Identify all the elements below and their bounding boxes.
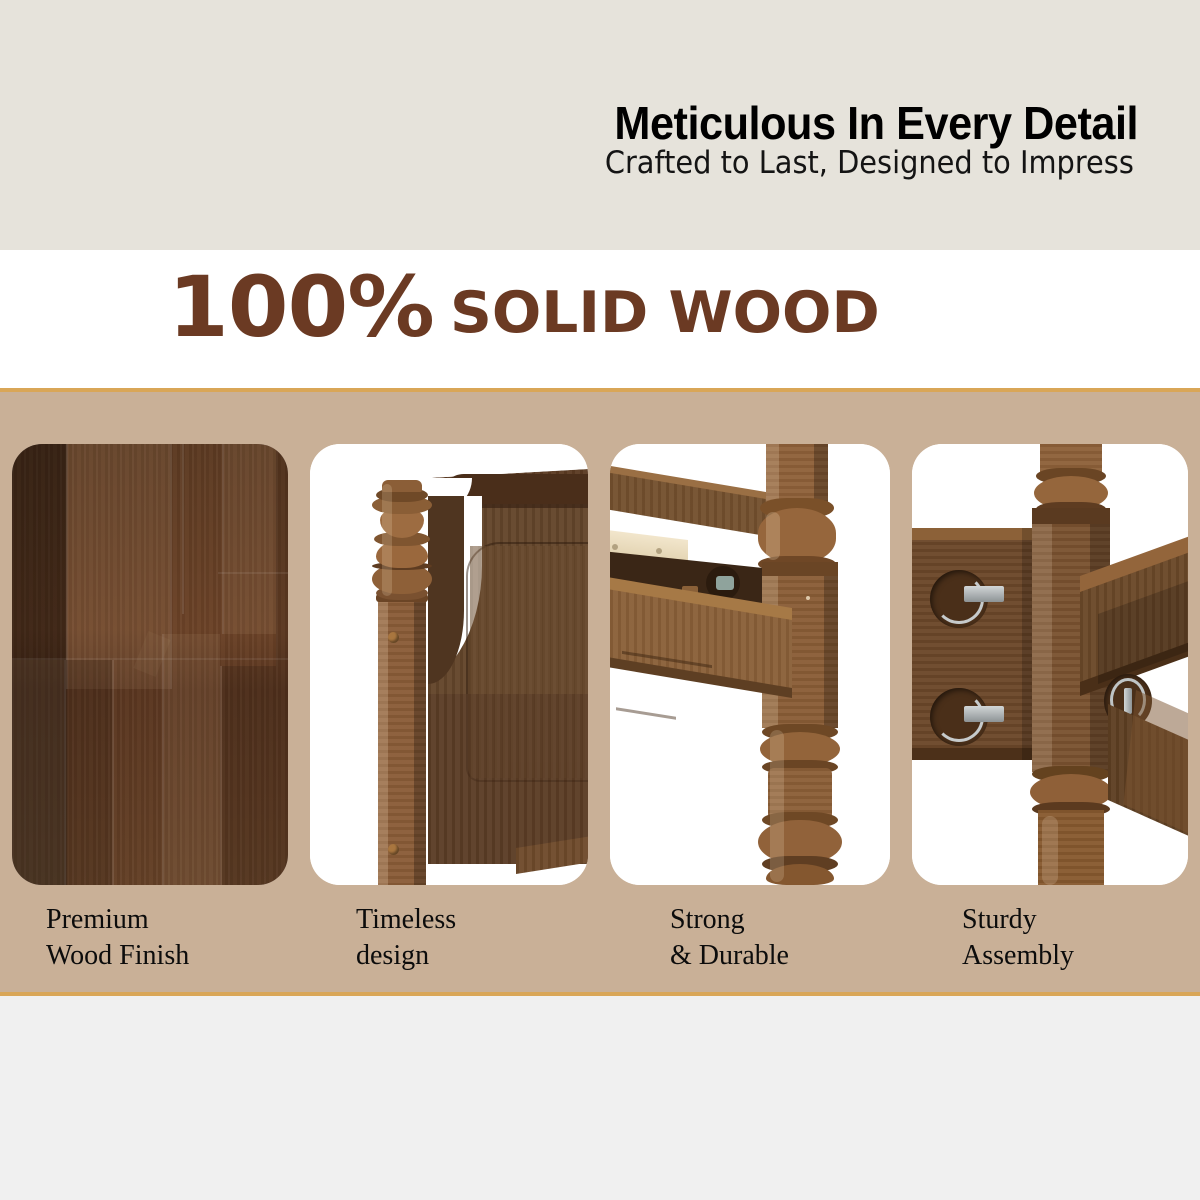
claim-material: SOLID WOOD	[450, 285, 880, 348]
page-subtitle: Crafted to Last, Designed to Impress	[605, 145, 1134, 181]
claim-percentage: 100%	[168, 268, 434, 348]
claim-band: 100% SOLID WOOD	[0, 250, 1200, 388]
footer-band	[0, 996, 1200, 1200]
wood-grain-planks-image	[12, 444, 288, 885]
solid-wood-claim: 100% SOLID WOOD	[168, 268, 871, 348]
header-band: Meticulous In Every Detail Crafted to La…	[0, 0, 1200, 250]
bed-leg-rail-joint-image	[610, 444, 890, 885]
bed-headboard-finial-image	[310, 444, 588, 885]
gallery-tile-sturdy-assembly[interactable]	[912, 444, 1188, 885]
gallery-tile-timeless-design[interactable]	[310, 444, 588, 885]
tile-caption-premium-wood-finish: Premium Wood Finish	[46, 902, 189, 974]
cam-lock-hardware-image	[912, 444, 1188, 885]
page-title: Meticulous In Every Detail	[614, 96, 1138, 150]
gallery-tile-strong-durable[interactable]	[610, 444, 890, 885]
tile-caption-strong-durable: Strong & Durable	[670, 902, 789, 974]
gallery-tile-premium-wood-finish[interactable]	[12, 444, 288, 885]
tile-caption-sturdy-assembly: Sturdy Assembly	[962, 902, 1074, 974]
tile-caption-timeless-design: Timeless design	[356, 902, 456, 974]
